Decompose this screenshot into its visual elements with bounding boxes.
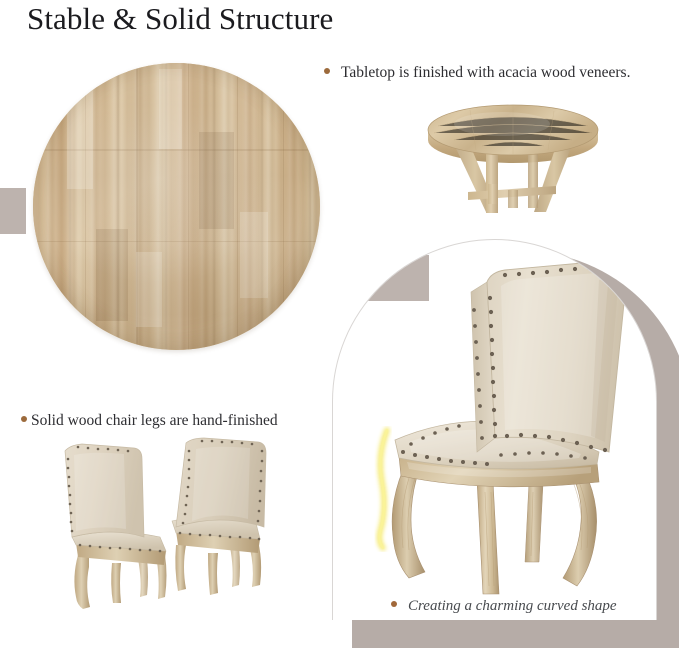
bullet-chair-legs: Solid wood chair legs are hand-finished	[21, 412, 278, 430]
featured-chair-panel: Creating a charming curved shape	[332, 236, 679, 648]
bullet-dot-icon	[21, 416, 27, 422]
bullet-curved-shape: Creating a charming curved shape	[391, 598, 617, 615]
page-title: Stable & Solid Structure	[27, 0, 333, 38]
round-dining-table-image	[424, 100, 602, 222]
bullet-tabletop: Tabletop is finished with acacia wood ve…	[324, 64, 630, 82]
bullet-curved-shape-label: Creating a charming curved shape	[408, 598, 617, 615]
arch-card: Creating a charming curved shape	[332, 239, 657, 620]
bullet-tabletop-label: Tabletop is finished with acacia wood ve…	[341, 64, 630, 82]
tabletop-edge-shading	[33, 63, 320, 350]
infographic-canvas: Stable & Solid Structure Tab	[0, 0, 679, 648]
accent-block-left	[0, 188, 26, 234]
bullet-chair-legs-label: Solid wood chair legs are hand-finished	[31, 412, 278, 430]
tabletop-disc	[33, 63, 320, 350]
bullet-dot-icon	[391, 601, 397, 607]
tabletop-image	[33, 63, 320, 350]
bullet-dot-icon	[324, 68, 330, 74]
featured-chair-image	[359, 256, 655, 620]
chair-pair-image	[52, 437, 274, 614]
